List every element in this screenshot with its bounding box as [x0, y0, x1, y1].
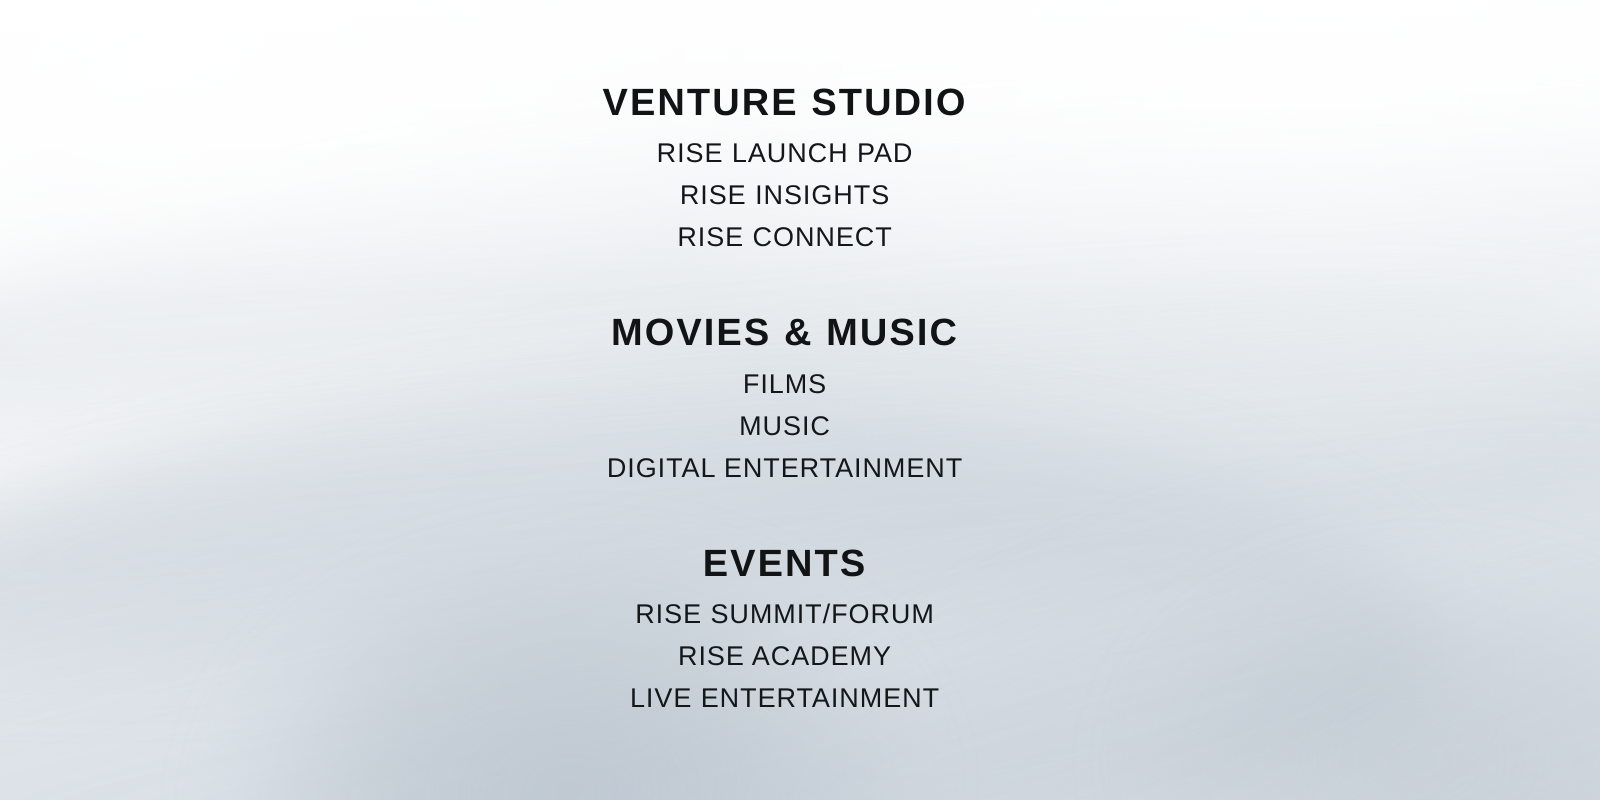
menu-group-venture-studio: VENTURE STUDIO RISE LAUNCH PAD RISE INSI…	[0, 83, 1585, 258]
menu-item-rise-insights[interactable]: RISE INSIGHTS	[680, 174, 890, 216]
menu-group-heading-movies-and-music[interactable]: MOVIES & MUSIC	[611, 313, 959, 353]
menu-group-movies-and-music: MOVIES & MUSIC FILMS MUSIC DIGITAL ENTER…	[0, 313, 1585, 488]
menu-item-rise-launch-pad[interactable]: RISE LAUNCH PAD	[657, 132, 914, 174]
menu-item-live-entertainment[interactable]: LIVE ENTERTAINMENT	[630, 677, 940, 719]
menu-item-films[interactable]: FILMS	[743, 363, 827, 405]
navigation-menu: VENTURE STUDIO RISE LAUNCH PAD RISE INSI…	[0, 0, 1600, 800]
menu-group-events: EVENTS RISE SUMMIT/FORUM RISE ACADEMY LI…	[0, 544, 1585, 719]
menu-item-rise-summit-forum[interactable]: RISE SUMMIT/FORUM	[635, 593, 935, 635]
menu-item-rise-connect[interactable]: RISE CONNECT	[677, 216, 892, 258]
page-root: VENTURE STUDIO RISE LAUNCH PAD RISE INSI…	[0, 0, 1600, 800]
menu-item-music[interactable]: MUSIC	[739, 405, 831, 447]
menu-item-digital-entertainment[interactable]: DIGITAL ENTERTAINMENT	[607, 447, 963, 489]
menu-group-heading-venture-studio[interactable]: VENTURE STUDIO	[603, 83, 968, 123]
menu-group-heading-events[interactable]: EVENTS	[703, 544, 868, 584]
menu-item-rise-academy[interactable]: RISE ACADEMY	[678, 635, 892, 677]
